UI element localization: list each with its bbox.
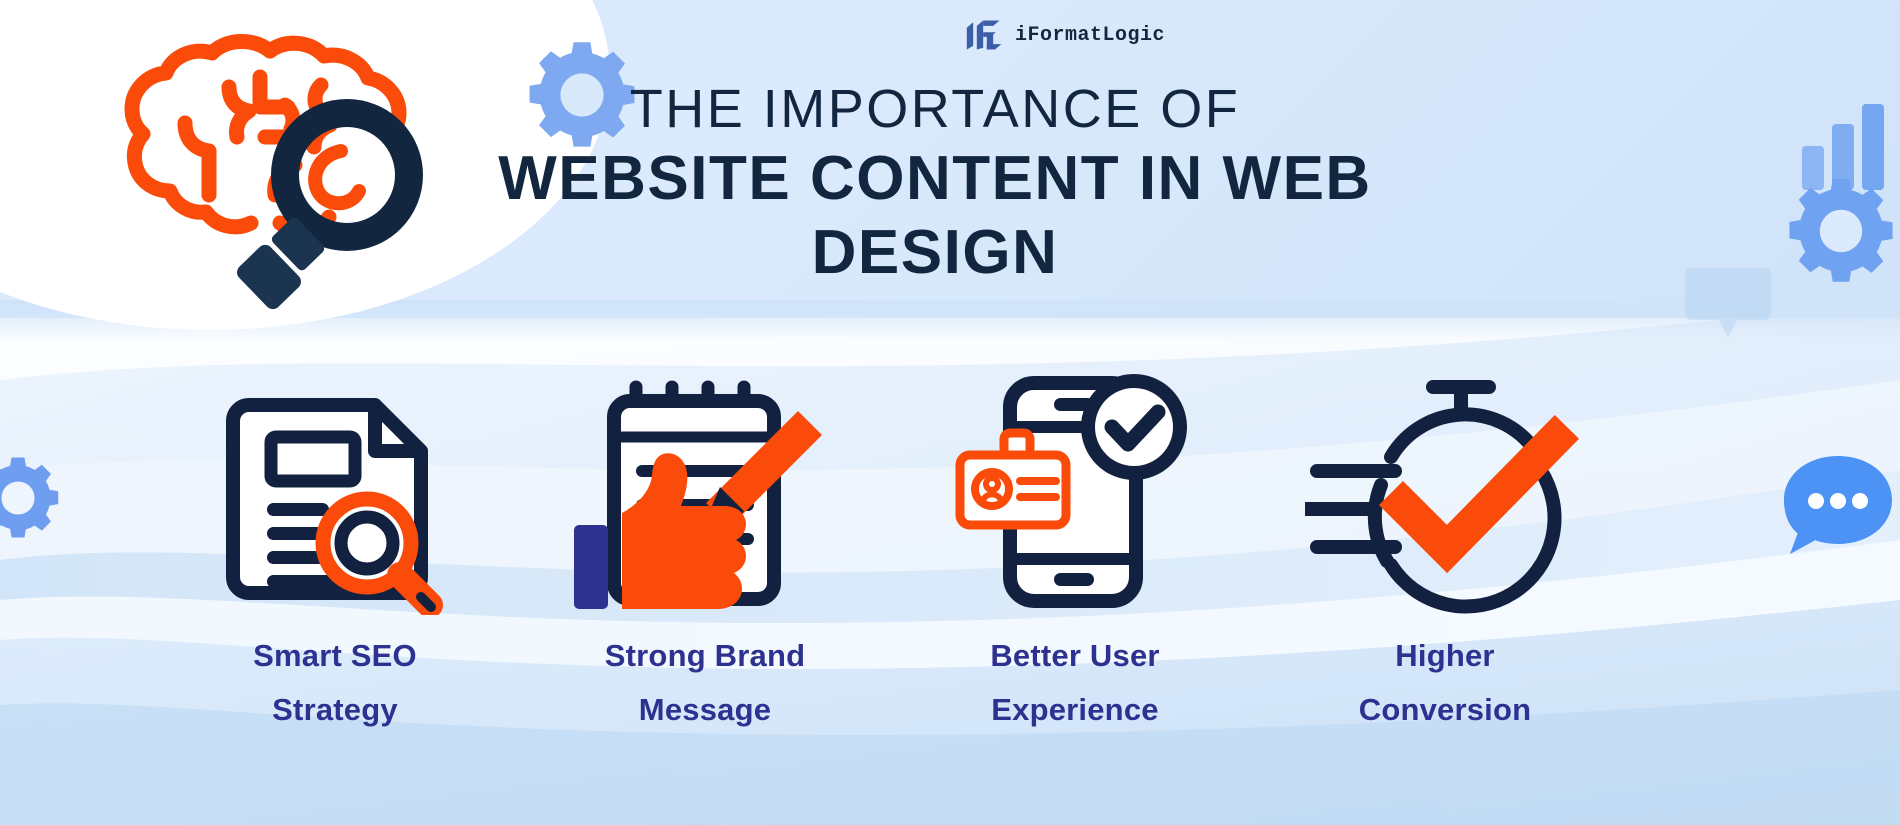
notepad-pencil-thumbs-up-icon xyxy=(570,365,840,615)
brand-logo[interactable]: iFormatLogic xyxy=(965,18,1165,52)
feature-art xyxy=(925,355,1225,615)
feature-label: Better User Experience xyxy=(990,629,1159,737)
feature-item-better-user-experience[interactable]: Better User Experience xyxy=(890,355,1260,737)
ifl-monogram-icon xyxy=(965,18,1005,52)
chat-bubble-icon xyxy=(1778,452,1896,558)
page-title: THE IMPORTANCE OF WEBSITE CONTENT IN WEB… xyxy=(430,78,1440,290)
feature-item-higher-conversion[interactable]: Higher Conversion xyxy=(1260,355,1630,737)
feature-label-line-1: Smart SEO xyxy=(253,629,417,683)
stopwatch-check-icon xyxy=(1305,365,1585,615)
feature-label-line-2: Experience xyxy=(990,683,1159,737)
feature-label: Smart SEO Strategy xyxy=(253,629,417,737)
magnifier-lens-icon xyxy=(285,113,409,237)
smartphone-id-card-check-icon xyxy=(950,365,1200,615)
feature-label-line-1: Strong Brand xyxy=(605,629,805,683)
speech-bubble-outline-icon xyxy=(1683,262,1773,342)
title-line-1: THE IMPORTANCE OF xyxy=(430,78,1440,140)
feature-label-line-1: Higher Conversion xyxy=(1305,629,1585,737)
feature-label-line-2: Strategy xyxy=(253,683,417,737)
gear-icon-right xyxy=(1782,172,1900,290)
feature-list: Smart SEO Strategy xyxy=(150,355,1630,737)
gear-icon-left-edge xyxy=(0,452,64,544)
brand-logo-text: iFormatLogic xyxy=(1015,24,1165,47)
feature-item-smart-seo-strategy[interactable]: Smart SEO Strategy xyxy=(150,355,520,737)
feature-label-line-1: Better User xyxy=(990,629,1159,683)
feature-art xyxy=(1295,355,1595,615)
feature-item-strong-brand-message[interactable]: Strong Brand Message xyxy=(520,355,890,737)
document-with-magnifier-icon xyxy=(215,375,455,615)
infographic-canvas: iFormatLogic THE IMPORTANCE OF WEBSITE C… xyxy=(0,0,1900,825)
feature-label: Strong Brand Message xyxy=(605,629,805,737)
feature-label: Higher Conversion xyxy=(1305,629,1585,737)
feature-label-line-2: Message xyxy=(605,683,805,737)
feature-art xyxy=(555,355,855,615)
brain-with-magnifier-illustration xyxy=(95,25,445,315)
title-line-2: WEBSITE CONTENT IN WEB DESIGN xyxy=(430,142,1440,290)
feature-art xyxy=(185,355,485,615)
